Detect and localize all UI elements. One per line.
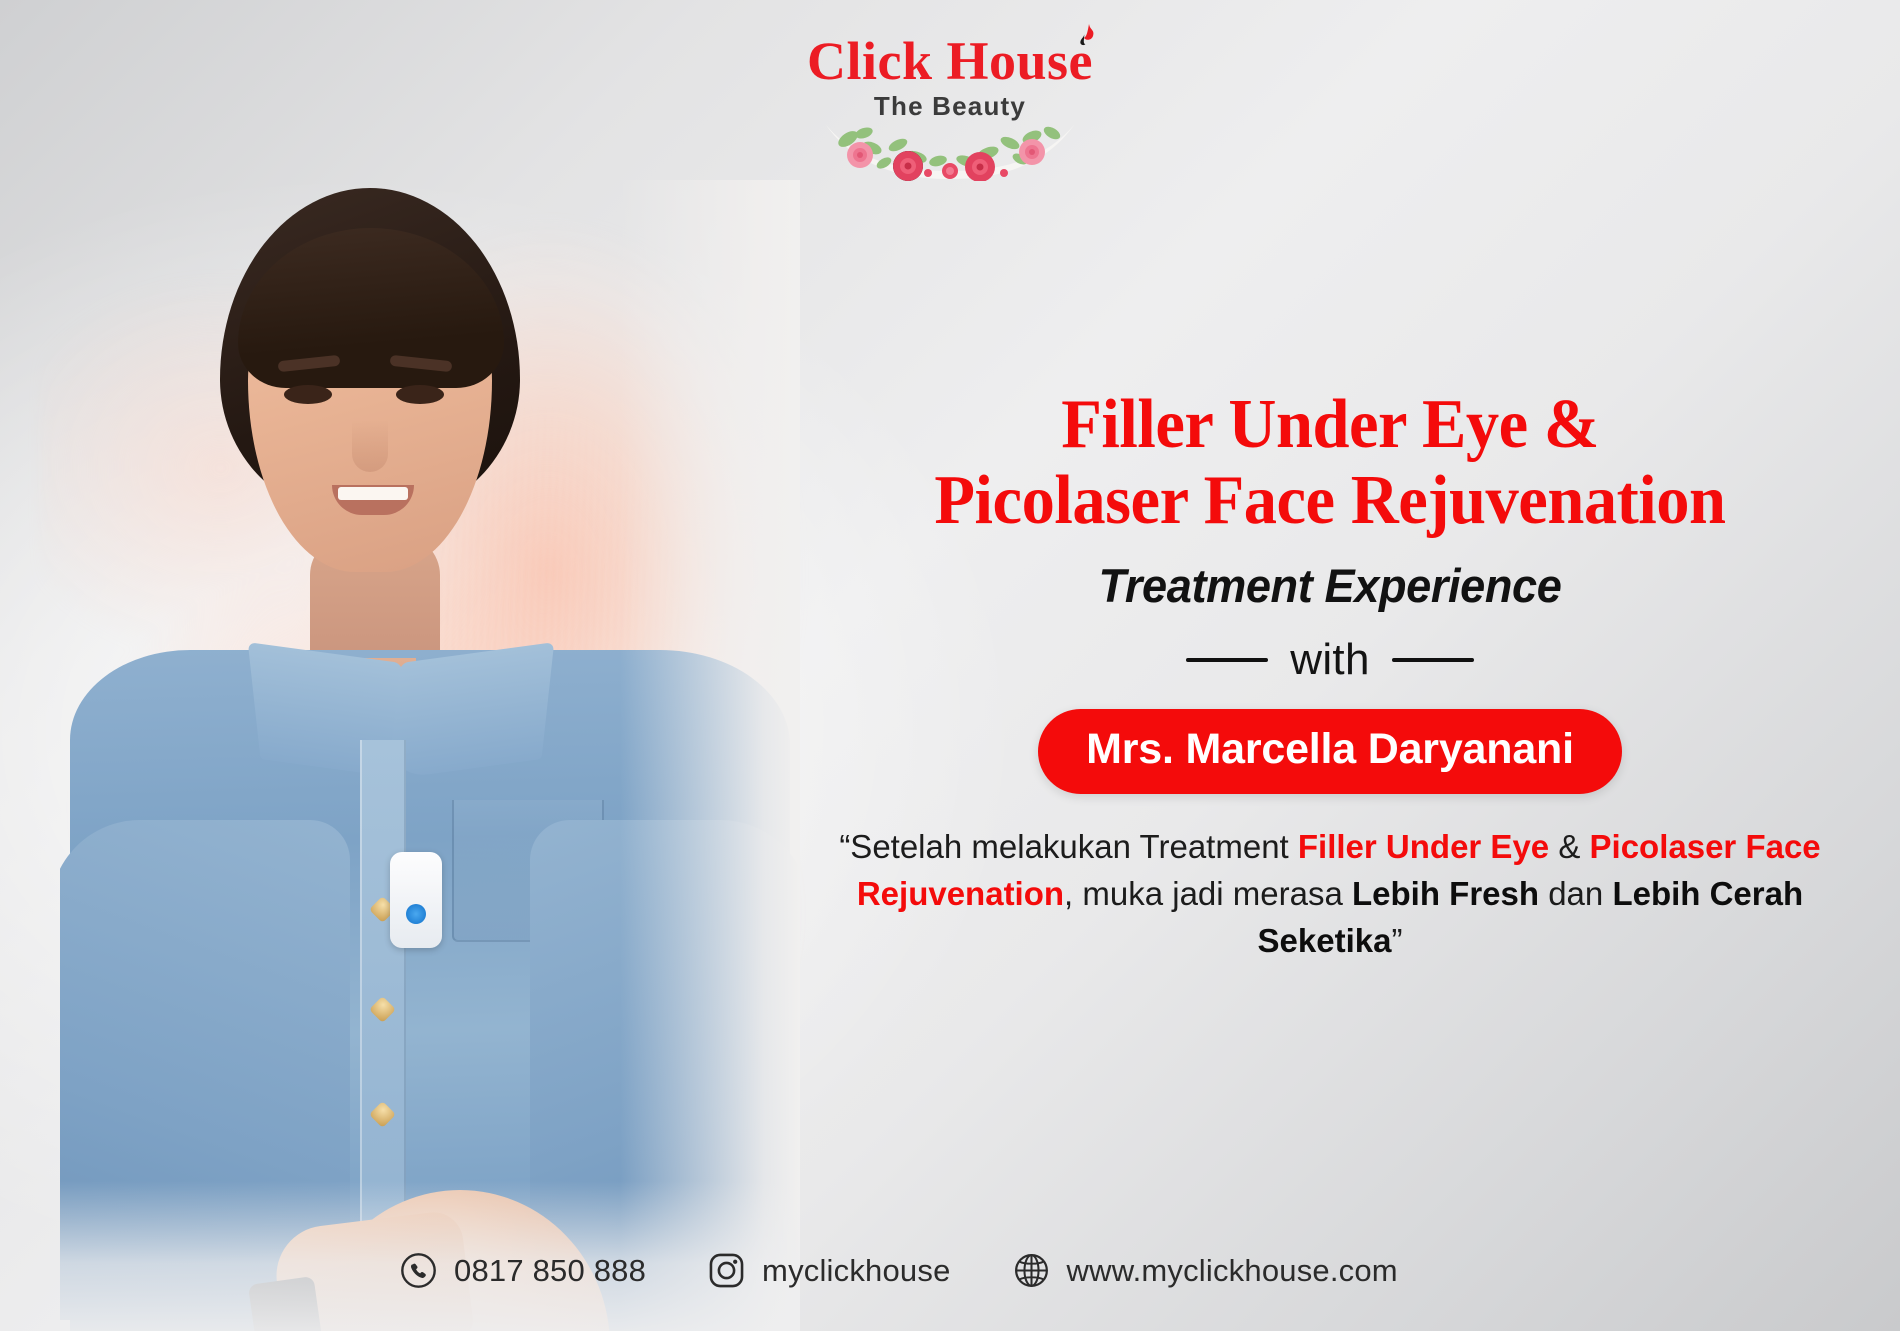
contact-phone[interactable]: 0817 850 888 xyxy=(400,1252,646,1289)
globe-icon xyxy=(1013,1252,1050,1289)
headline-line-2: Picolaser Face Rejuvenation xyxy=(817,466,1843,536)
nose-shape xyxy=(352,420,388,472)
quote-part-open: “Setelah melakukan Treatment xyxy=(839,828,1298,865)
eye-right xyxy=(396,385,444,404)
quote-highlight-1: Filler Under Eye xyxy=(1298,828,1549,865)
phone-icon xyxy=(400,1252,437,1289)
testimonial-quote: “Setelah melakukan Treatment Filler Unde… xyxy=(830,824,1830,965)
with-divider-row: with xyxy=(790,635,1870,685)
lavalier-microphone xyxy=(390,852,442,948)
teeth-shape xyxy=(338,487,408,500)
logo-name-text: Click House xyxy=(807,31,1093,91)
rose-garland-ornament xyxy=(0,121,1900,181)
with-label: with xyxy=(1290,635,1369,685)
divider-left xyxy=(1186,658,1268,662)
instagram-handle: myclickhouse xyxy=(762,1253,950,1289)
collar-right xyxy=(388,642,554,780)
quote-part-close: ” xyxy=(1391,922,1402,959)
quote-part-mid-1: & xyxy=(1549,828,1580,865)
quote-part-mid-3: dan xyxy=(1548,875,1612,912)
brand-logo: Click House The Beauty xyxy=(0,34,1900,181)
flame-accent-icon xyxy=(1077,24,1095,46)
contact-instagram[interactable]: myclickhouse xyxy=(708,1252,950,1289)
instagram-icon xyxy=(708,1252,745,1289)
phone-number: 0817 850 888 xyxy=(454,1253,646,1289)
photo-right-fade xyxy=(620,180,800,1331)
logo-wordmark: Click House xyxy=(807,34,1093,88)
client-name-badge: Mrs. Marcella Daryanani xyxy=(1038,709,1622,794)
page-title: Filler Under Eye & Picolaser Face Rejuve… xyxy=(817,390,1843,536)
hero-content: Filler Under Eye & Picolaser Face Rejuve… xyxy=(790,390,1870,965)
headline-line-1: Filler Under Eye & xyxy=(817,390,1843,460)
divider-right xyxy=(1392,658,1474,662)
eye-left xyxy=(284,385,332,404)
quote-bold-1: Lebih Fresh xyxy=(1352,875,1539,912)
client-photo xyxy=(60,180,800,1331)
contact-bar: 0817 850 888 myclickhouse www.myclickhou… xyxy=(400,1252,1398,1289)
contact-website[interactable]: www.myclickhouse.com xyxy=(1013,1252,1398,1289)
subheadline: Treatment Experience xyxy=(812,558,1849,613)
quote-part-mid-2: , muka jadi merasa xyxy=(1064,875,1352,912)
logo-tagline: The Beauty xyxy=(0,93,1900,119)
website-url: www.myclickhouse.com xyxy=(1067,1253,1398,1289)
promotional-poster: Click House The Beauty xyxy=(0,0,1900,1331)
